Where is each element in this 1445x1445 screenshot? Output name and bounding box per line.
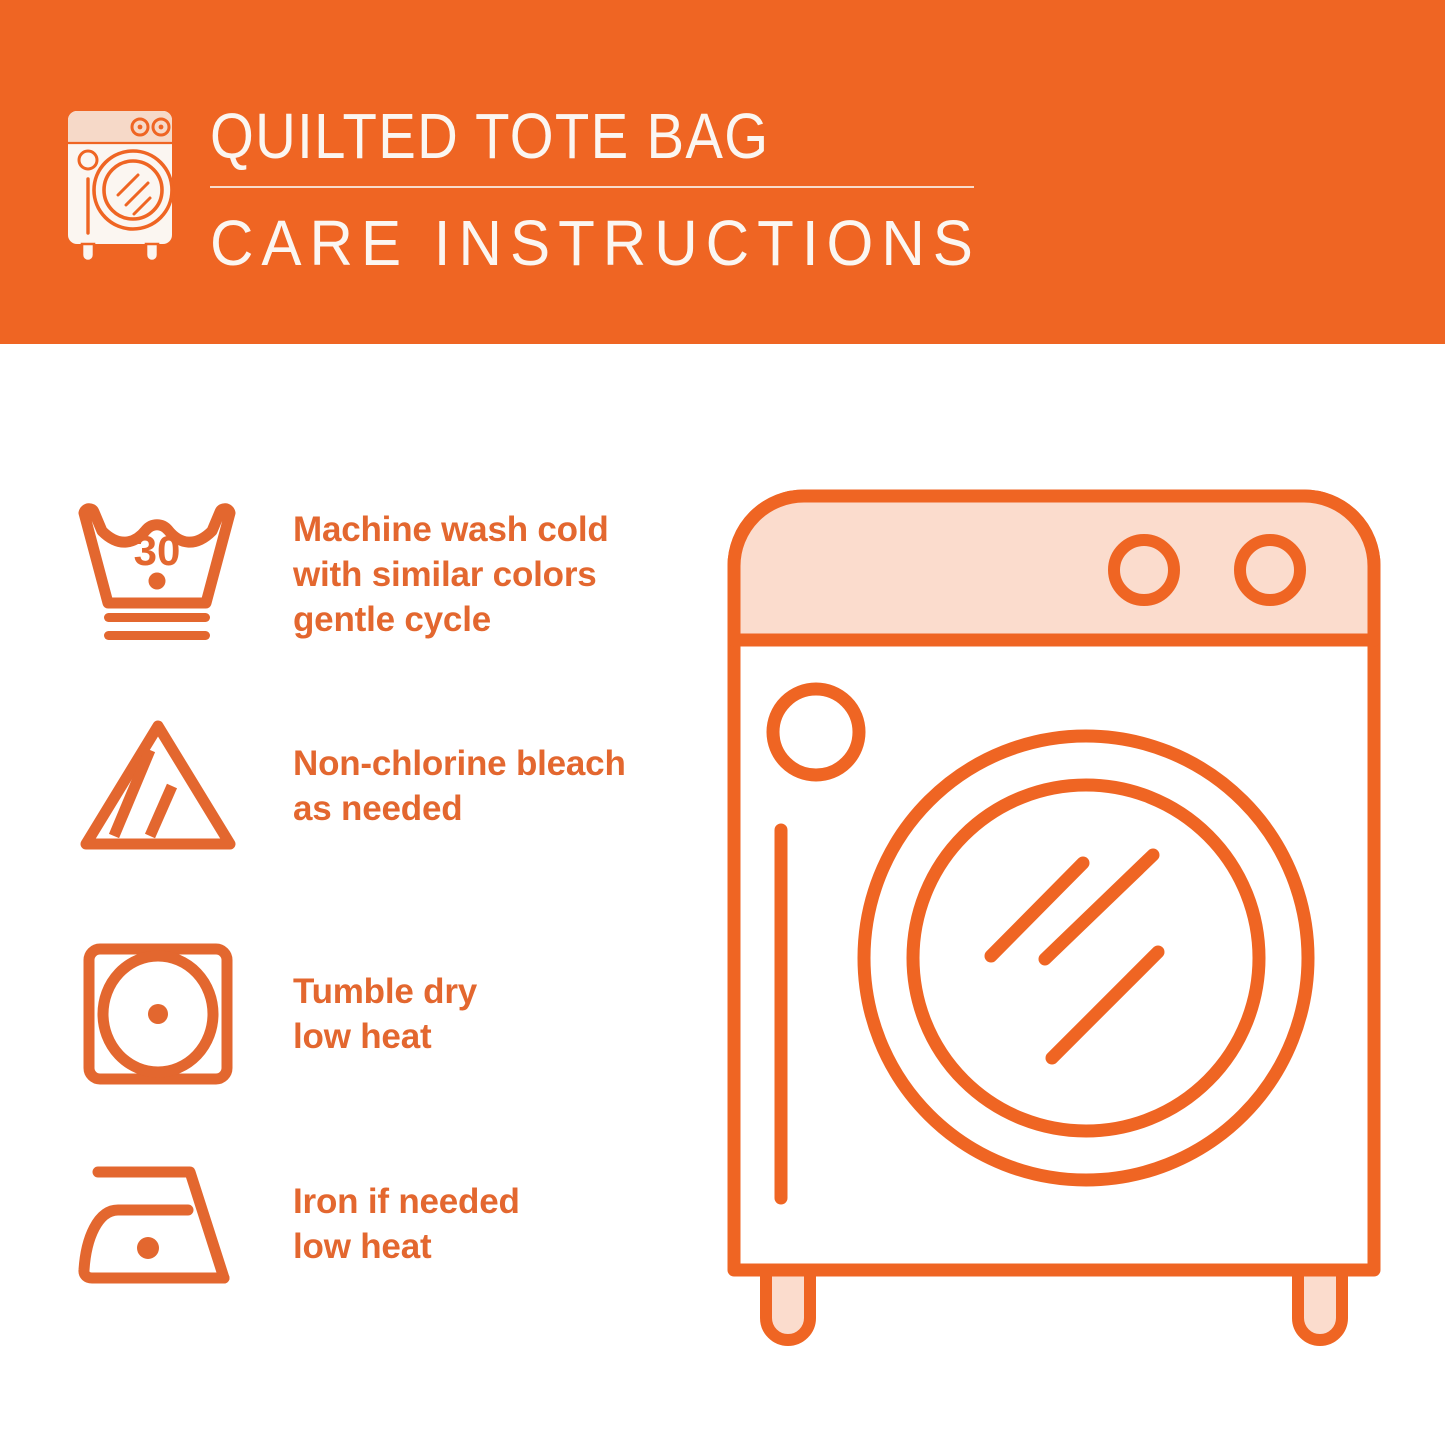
care-line: low heat: [293, 1014, 700, 1059]
page-subtitle: CARE INSTRUCTIONS: [210, 206, 962, 280]
iron-low-heat-icon: [70, 1154, 245, 1294]
care-line: low heat: [293, 1224, 700, 1269]
care-row-iron: Iron if needed low heat: [0, 1144, 700, 1304]
care-instructions-page: QUILTED TOTE BAG CARE INSTRUCTIONS 30: [0, 0, 1445, 1445]
care-line: Non-chlorine bleach: [293, 741, 700, 786]
care-label-bleach: Non-chlorine bleach as needed: [293, 741, 700, 831]
care-row-bleach: Non-chlorine bleach as needed: [0, 706, 700, 866]
care-row-tumble-dry: Tumble dry low heat: [0, 934, 700, 1094]
care-instruction-list: 30 Machine wash cold with similar colors…: [0, 344, 700, 1445]
care-line: with similar colors: [293, 552, 700, 597]
svg-text:30: 30: [133, 527, 180, 574]
title-divider: [210, 186, 974, 188]
page-title: QUILTED TOTE BAG: [210, 100, 914, 172]
care-line: Tumble dry: [293, 969, 700, 1014]
non-chlorine-bleach-icon: [70, 716, 245, 856]
care-line: Machine wash cold: [293, 507, 700, 552]
header-text-block: QUILTED TOTE BAG CARE INSTRUCTIONS: [210, 100, 1010, 280]
leg-left: [766, 1270, 810, 1340]
front-load-washing-machine-illustration: [718, 480, 1390, 1380]
washing-machine-icon: [58, 97, 188, 263]
care-line: gentle cycle: [293, 597, 700, 642]
control-panel: [734, 496, 1374, 640]
header-band: QUILTED TOTE BAG CARE INSTRUCTIONS: [0, 0, 1445, 344]
care-label-machine-wash: Machine wash cold with similar colors ge…: [293, 507, 700, 642]
care-row-machine-wash: 30 Machine wash cold with similar colors…: [0, 494, 700, 654]
tumble-dry-low-icon: [70, 939, 245, 1089]
care-label-iron: Iron if needed low heat: [293, 1179, 700, 1269]
leg-right: [1298, 1270, 1342, 1340]
care-line: as needed: [293, 786, 700, 831]
machine-wash-30-gentle-icon: 30: [70, 499, 245, 649]
care-line: Iron if needed: [293, 1179, 700, 1224]
care-label-tumble-dry: Tumble dry low heat: [293, 969, 700, 1059]
